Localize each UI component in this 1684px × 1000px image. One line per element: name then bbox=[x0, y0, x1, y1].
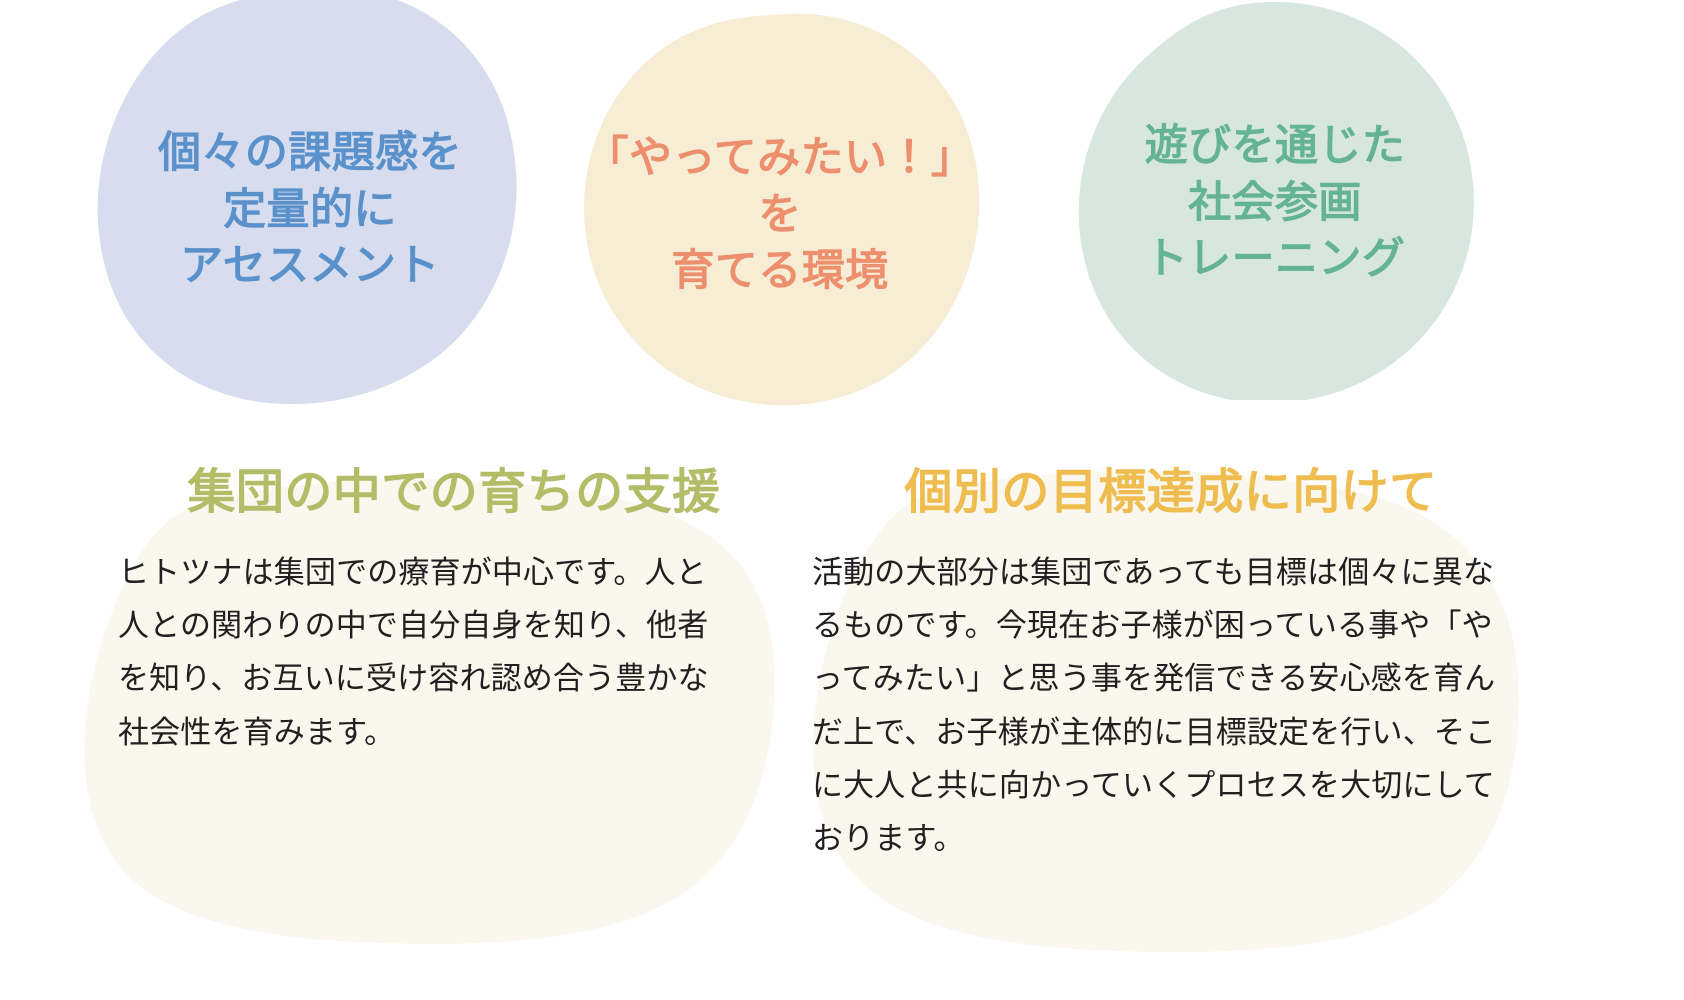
detail-column-individual: 個別の目標達成に向けて 活動の大部分は集団であっても目標は個々に異なるものです。… bbox=[790, 455, 1530, 1000]
feature-blob-motivation-label: 「やってみたい！」を 育てる環境 bbox=[580, 130, 980, 300]
infographic-canvas: 個々の課題感を 定量的に アセスメント 「やってみたい！」を 育てる環境 遊びを… bbox=[0, 0, 1684, 1000]
detail-column-group: 集団の中での育ちの支援 ヒトツナは集団での療育が中心です。人と人との関わりの中で… bbox=[80, 455, 820, 1000]
feature-blob-motivation: 「やってみたい！」を 育てる環境 bbox=[580, 10, 980, 410]
detail-column-group-content: 集団の中での育ちの支援 ヒトツナは集団での療育が中心です。人と人との関わりの中で… bbox=[80, 455, 820, 759]
feature-blob-play: 遊びを通じた 社会参画 トレーニング bbox=[1075, 0, 1475, 400]
feature-blob-assessment: 個々の課題感を 定量的に アセスメント bbox=[95, 0, 525, 412]
detail-column-row: 集団の中での育ちの支援 ヒトツナは集団での療育が中心です。人と人との関わりの中で… bbox=[0, 455, 1684, 1000]
detail-column-individual-content: 個別の目標達成に向けて 活動の大部分は集団であっても目標は個々に異なるものです。… bbox=[790, 455, 1530, 866]
feature-blob-assessment-label: 個々の課題感を 定量的に アセスメント bbox=[158, 125, 462, 295]
detail-body-group: ヒトツナは集団での療育が中心です。人と人との関わりの中で自分自身を知り、他者を知… bbox=[80, 520, 758, 759]
detail-body-individual: 活動の大部分は集団であっても目標は個々に異なるものです。今現在お子様が困っている… bbox=[790, 520, 1520, 866]
feature-blob-row: 個々の課題感を 定量的に アセスメント 「やってみたい！」を 育てる環境 遊びを… bbox=[0, 0, 1684, 460]
feature-blob-play-label: 遊びを通じた 社会参画 トレーニング bbox=[1145, 118, 1406, 288]
detail-heading-individual: 個別の目標達成に向けて bbox=[790, 455, 1530, 520]
detail-heading-group: 集団の中での育ちの支援 bbox=[80, 455, 820, 520]
